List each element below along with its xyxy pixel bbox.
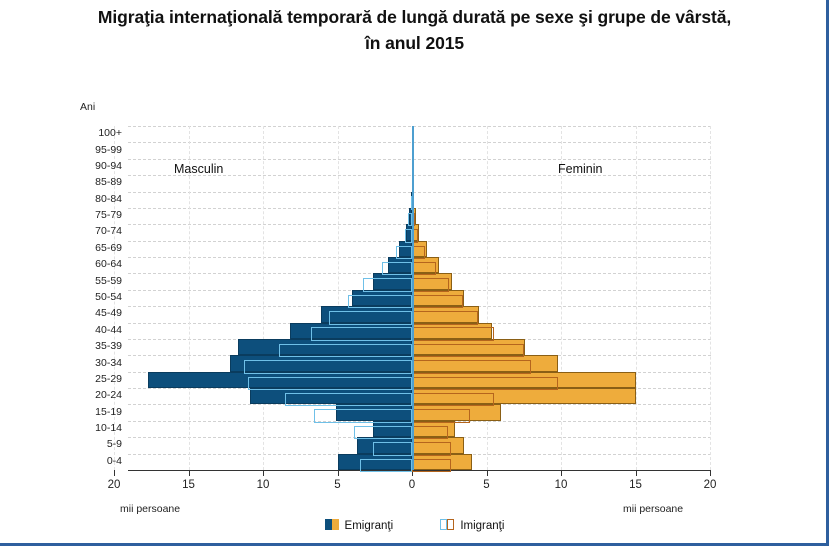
- y-axis-label: 60-64: [76, 258, 122, 270]
- bar-immigrants-female: [412, 278, 449, 291]
- bar-immigrants-male: [360, 459, 412, 472]
- y-axis-label: 55-59: [76, 275, 122, 287]
- bar-immigrants-female: [412, 360, 531, 373]
- x-axis-tick: [338, 470, 339, 476]
- legend-item-emigranti[interactable]: Emigranţi: [325, 519, 394, 532]
- x-axis-tick: [636, 470, 637, 476]
- y-axis-label: 45-49: [76, 307, 122, 319]
- vertical-gridline: [263, 126, 264, 470]
- bar-immigrants-male: [405, 229, 412, 242]
- y-axis-label: 20-24: [76, 389, 122, 401]
- bar-immigrants-male: [363, 278, 412, 291]
- vertical-gridline: [710, 126, 711, 470]
- gridline: [128, 142, 711, 143]
- bar-immigrants-female: [412, 327, 494, 340]
- legend-label-emigranti: Emigranţi: [345, 520, 394, 532]
- y-axis-label: 95-99: [76, 144, 122, 156]
- bar-immigrants-male: [279, 344, 412, 357]
- bar-immigrants-male: [348, 295, 412, 308]
- x-axis-label: 5: [467, 479, 507, 491]
- y-axis-label: 75-79: [76, 209, 122, 221]
- y-axis-label: 65-69: [76, 242, 122, 254]
- y-axis-label: 85-89: [76, 176, 122, 188]
- x-axis-label: 20: [690, 479, 730, 491]
- y-axis-label: 30-34: [76, 357, 122, 369]
- chart-title-line1: Migraţia internaţională temporară de lun…: [98, 7, 731, 27]
- y-axis-label: 15-19: [76, 406, 122, 418]
- x-axis-label: 15: [169, 479, 209, 491]
- gridline: [128, 126, 711, 127]
- bar-immigrants-male: [382, 262, 412, 275]
- bar-immigrants-female: [412, 262, 436, 275]
- x-axis-tick: [487, 470, 488, 476]
- x-axis-tick: [189, 470, 190, 476]
- bar-immigrants-female: [412, 442, 451, 455]
- bar-immigrants-male: [314, 409, 412, 422]
- bar-immigrants-female: [412, 344, 524, 357]
- panel-label-feminin: Feminin: [558, 162, 602, 176]
- x-axis-label: 0: [392, 479, 432, 491]
- x-axis-tick: [561, 470, 562, 476]
- y-axis-label: 80-84: [76, 193, 122, 205]
- y-axis-title: Ani: [80, 101, 95, 113]
- y-axis-label: 25-29: [76, 373, 122, 385]
- bar-immigrants-male: [285, 393, 412, 406]
- bar-immigrants-male: [373, 442, 412, 455]
- figure-frame: Migraţia internaţională temporară de lun…: [0, 0, 829, 546]
- bar-immigrants-female: [412, 377, 558, 390]
- chart-title-line2: în anul 2015: [0, 30, 829, 56]
- bar-immigrants-male: [244, 360, 412, 373]
- y-axis-label: 0-4: [76, 455, 122, 467]
- gridline: [128, 192, 711, 193]
- x-axis-label: 20: [94, 479, 134, 491]
- chart-title: Migraţia internaţională temporară de lun…: [0, 4, 829, 56]
- bar-immigrants-male: [248, 377, 412, 390]
- bar-immigrants-female: [412, 409, 470, 422]
- y-axis-label: 100+: [76, 127, 122, 139]
- x-axis-tick: [710, 470, 711, 476]
- x-axis-tick: [263, 470, 264, 476]
- bar-immigrants-male: [311, 327, 412, 340]
- bar-immigrants-female: [412, 246, 425, 259]
- y-axis-label: 50-54: [76, 291, 122, 303]
- y-axis-label: 40-44: [76, 324, 122, 336]
- plot-area: Masculin Feminin: [128, 126, 711, 470]
- bar-immigrants-female: [412, 459, 451, 472]
- gridline: [128, 224, 711, 225]
- bar-immigrants-male: [329, 311, 412, 324]
- x-axis-tick: [114, 470, 115, 476]
- vertical-gridline: [561, 126, 562, 470]
- y-axis-label: 5-9: [76, 438, 122, 450]
- x-axis-label: 10: [243, 479, 283, 491]
- x-unit-left: mii persoane: [120, 503, 180, 515]
- legend-item-imigranti[interactable]: Imigranţi: [440, 519, 504, 532]
- x-axis-label: 5: [318, 479, 358, 491]
- panel-label-masculin: Masculin: [174, 162, 223, 176]
- chart-legend: Emigranţi Imigranţi: [0, 519, 829, 532]
- y-axis-label: 35-39: [76, 340, 122, 352]
- x-unit-right: mii persoane: [623, 503, 683, 515]
- y-axis-label: 90-94: [76, 160, 122, 172]
- bar-immigrants-female: [412, 311, 478, 324]
- y-axis-label: 10-14: [76, 422, 122, 434]
- bar-immigrants-female: [412, 393, 494, 406]
- legend-swatch-emigranti-icon: [325, 519, 340, 530]
- x-axis-label: 10: [541, 479, 581, 491]
- gridline: [128, 208, 711, 209]
- bar-immigrants-female: [412, 426, 448, 439]
- vertical-gridline: [636, 126, 637, 470]
- x-axis-label: 15: [616, 479, 656, 491]
- vertical-gridline: [189, 126, 190, 470]
- y-axis-label: 70-74: [76, 225, 122, 237]
- gridline: [128, 159, 711, 160]
- center-axis-line: [412, 126, 414, 470]
- bar-immigrants-female: [412, 295, 463, 308]
- bar-immigrants-male: [354, 426, 412, 439]
- bar-immigrants-male: [396, 246, 412, 259]
- legend-label-imigranti: Imigranţi: [460, 520, 504, 532]
- legend-swatch-imigranti-icon: [440, 519, 455, 530]
